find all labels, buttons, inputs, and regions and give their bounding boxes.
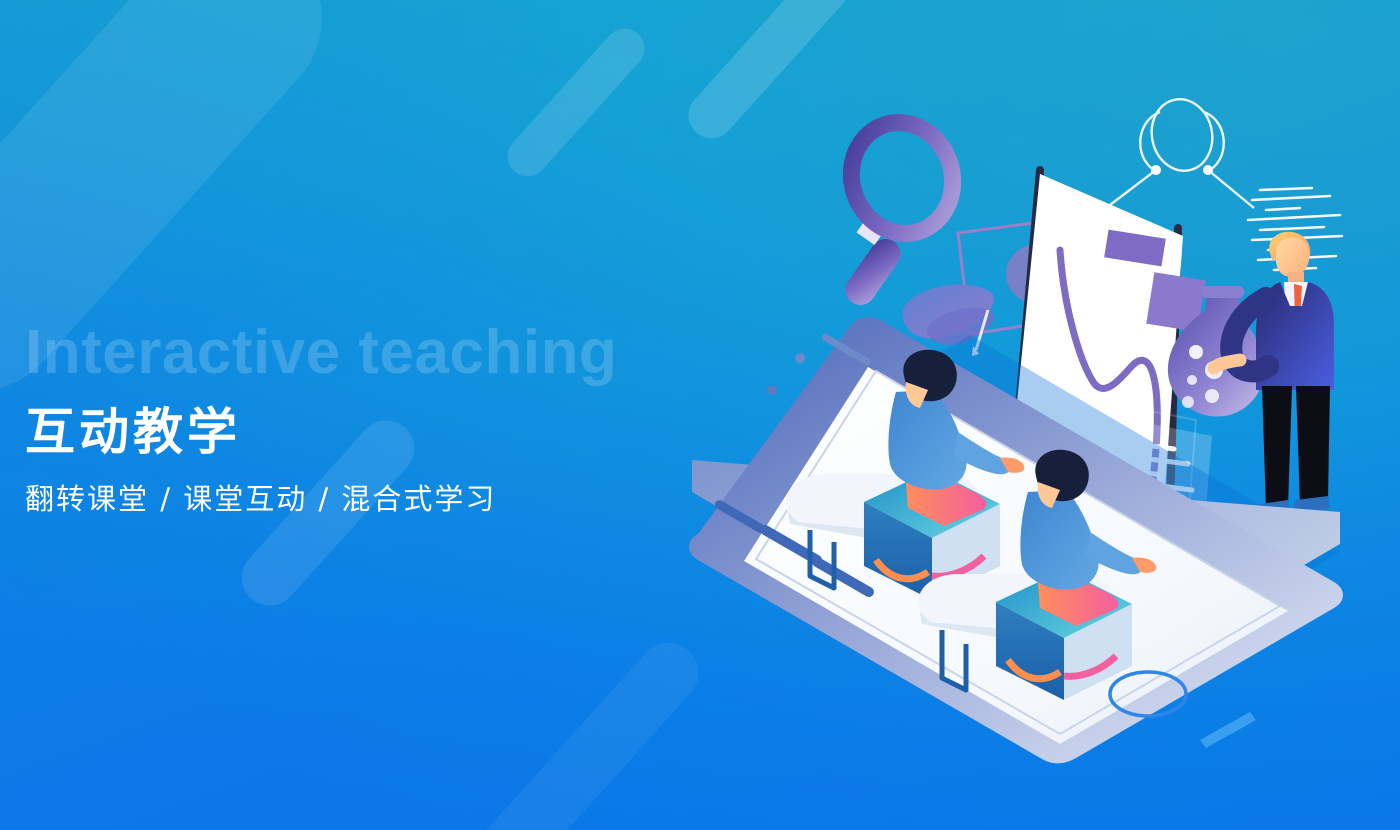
decor-capsule-small-a <box>499 20 653 184</box>
hero-illustration <box>640 60 1400 820</box>
magnifier-icon <box>837 109 967 311</box>
loop-annotation-icon <box>1106 94 1254 208</box>
teacher-figure <box>1214 232 1334 517</box>
hero-banner: Interactive teaching 互动教学 翻转课堂 / 课堂互动 / … <box>0 0 1400 830</box>
